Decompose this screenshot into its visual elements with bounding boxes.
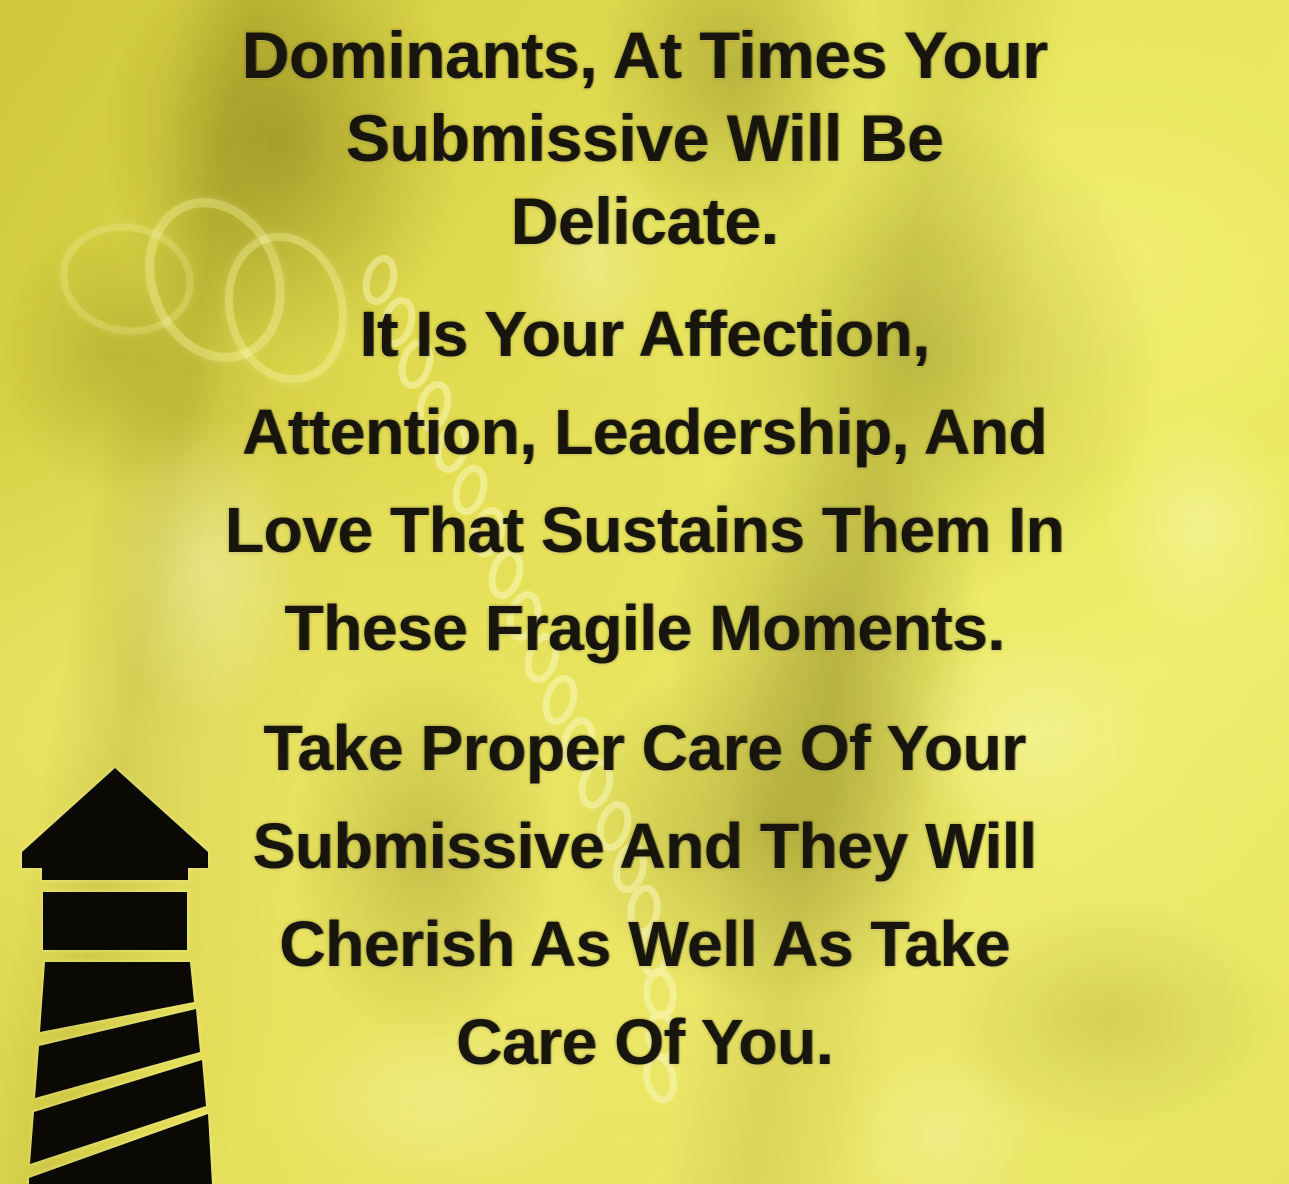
quote-line: Dominants, At Times Your bbox=[58, 14, 1231, 97]
lighthouse-logo-icon bbox=[12, 764, 222, 1184]
quote-paragraph-3: Take Proper Care Of Your Submissive And … bbox=[58, 677, 1231, 1091]
quote-paragraph-2: It Is Your Affection, Attention, Leaders… bbox=[58, 263, 1231, 677]
quote-line: Delicate. bbox=[58, 180, 1231, 263]
quote-poster: Dominants, At Times Your Submissive Will… bbox=[0, 0, 1289, 1184]
quote-line: Attention, Leadership, And bbox=[58, 383, 1231, 481]
quote-line: Care Of You. bbox=[58, 993, 1231, 1091]
quote-paragraph-1: Dominants, At Times Your Submissive Will… bbox=[58, 0, 1231, 263]
quote-line: Love That Sustains Them In bbox=[58, 481, 1231, 579]
quote-line: Submissive Will Be bbox=[58, 97, 1231, 180]
quote-line: It Is Your Affection, bbox=[58, 285, 1231, 383]
quote-line: Take Proper Care Of Your bbox=[58, 699, 1231, 797]
quote-line: These Fragile Moments. bbox=[58, 579, 1231, 677]
quote-line: Submissive And They Will bbox=[58, 797, 1231, 895]
quote-line: Cherish As Well As Take bbox=[58, 895, 1231, 993]
